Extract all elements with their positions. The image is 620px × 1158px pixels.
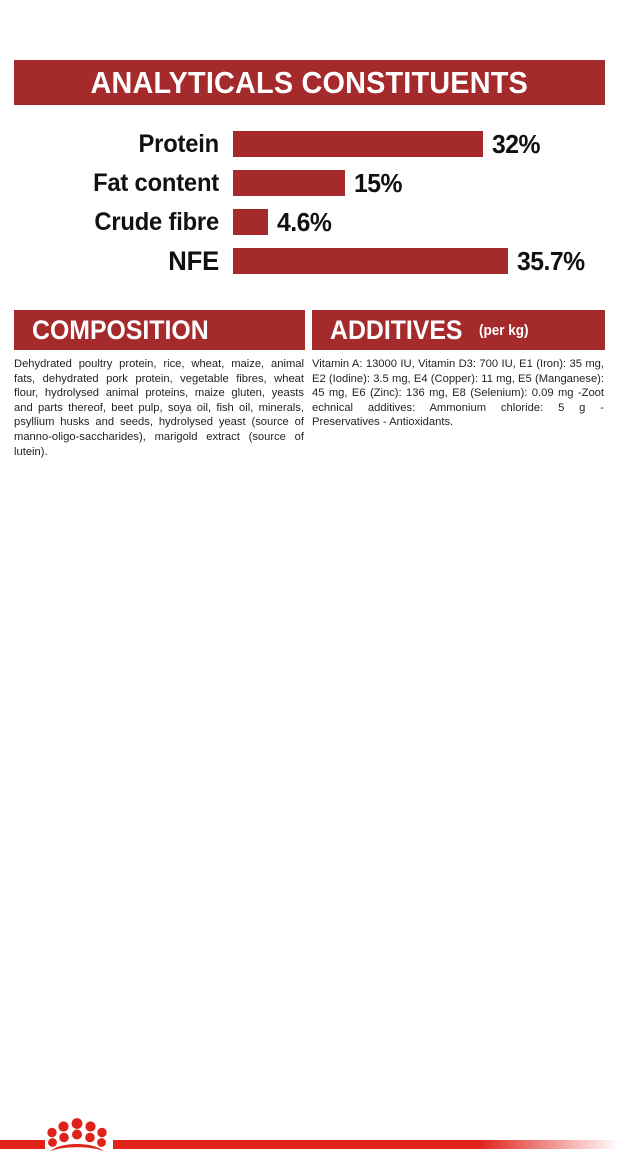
- additives-subheading: (per kg): [479, 323, 529, 338]
- analytical-constituents-chart: Protein 32% Fat content 15% Crude fibre …: [0, 124, 620, 284]
- composition-header: COMPOSITION: [14, 310, 305, 350]
- bar-nfe: [233, 248, 508, 274]
- additives-text: Vitamin A: 13000 IU, Vitamin D3: 700 IU,…: [312, 350, 605, 430]
- bar-value: 4.6%: [277, 207, 331, 238]
- bar-value: 35.7%: [517, 246, 585, 277]
- bar-value: 32%: [492, 129, 540, 160]
- chart-row: NFE 35.7%: [0, 241, 620, 281]
- analytical-constituents-banner: ANALYTICALS CONSTITUENTS: [14, 60, 605, 105]
- additives-heading: ADDITIVES: [330, 317, 463, 344]
- bar-group: 4.6%: [233, 207, 334, 238]
- bar-value: 15%: [354, 168, 402, 199]
- chart-row: Fat content 15%: [0, 163, 620, 203]
- bar-crude-fibre: [233, 209, 268, 235]
- composition-text: Dehydrated poultry protein, rice, wheat,…: [14, 350, 305, 459]
- royal-canin-crown-icon: [46, 1117, 108, 1153]
- bar-group: 15%: [233, 168, 405, 199]
- chart-row: Protein 32%: [0, 124, 620, 164]
- composition-panel: COMPOSITION Dehydrated poultry protein, …: [14, 310, 305, 459]
- bar-protein: [233, 131, 483, 157]
- footer-rule-left: [0, 1140, 45, 1149]
- additives-header: ADDITIVES (per kg): [312, 310, 605, 350]
- bar-label: NFE: [11, 246, 219, 277]
- bar-label: Crude fibre: [11, 208, 219, 237]
- footer-brand-strip: [0, 555, 620, 603]
- chart-row: Crude fibre 4.6%: [0, 202, 620, 242]
- composition-heading: COMPOSITION: [32, 317, 209, 344]
- bar-group: 32%: [233, 129, 543, 160]
- bar-group: 35.7%: [233, 246, 588, 277]
- bar-fat-content: [233, 170, 345, 196]
- bar-label: Protein: [11, 130, 219, 159]
- product-info-panel: ANALYTICALS CONSTITUENTS Protein 32% Fat…: [0, 0, 620, 620]
- page-title: ANALYTICALS CONSTITUENTS: [91, 67, 528, 98]
- footer-rule-right: [113, 1140, 620, 1149]
- bar-label: Fat content: [11, 169, 219, 198]
- additives-panel: ADDITIVES (per kg) Vitamin A: 13000 IU, …: [312, 310, 605, 430]
